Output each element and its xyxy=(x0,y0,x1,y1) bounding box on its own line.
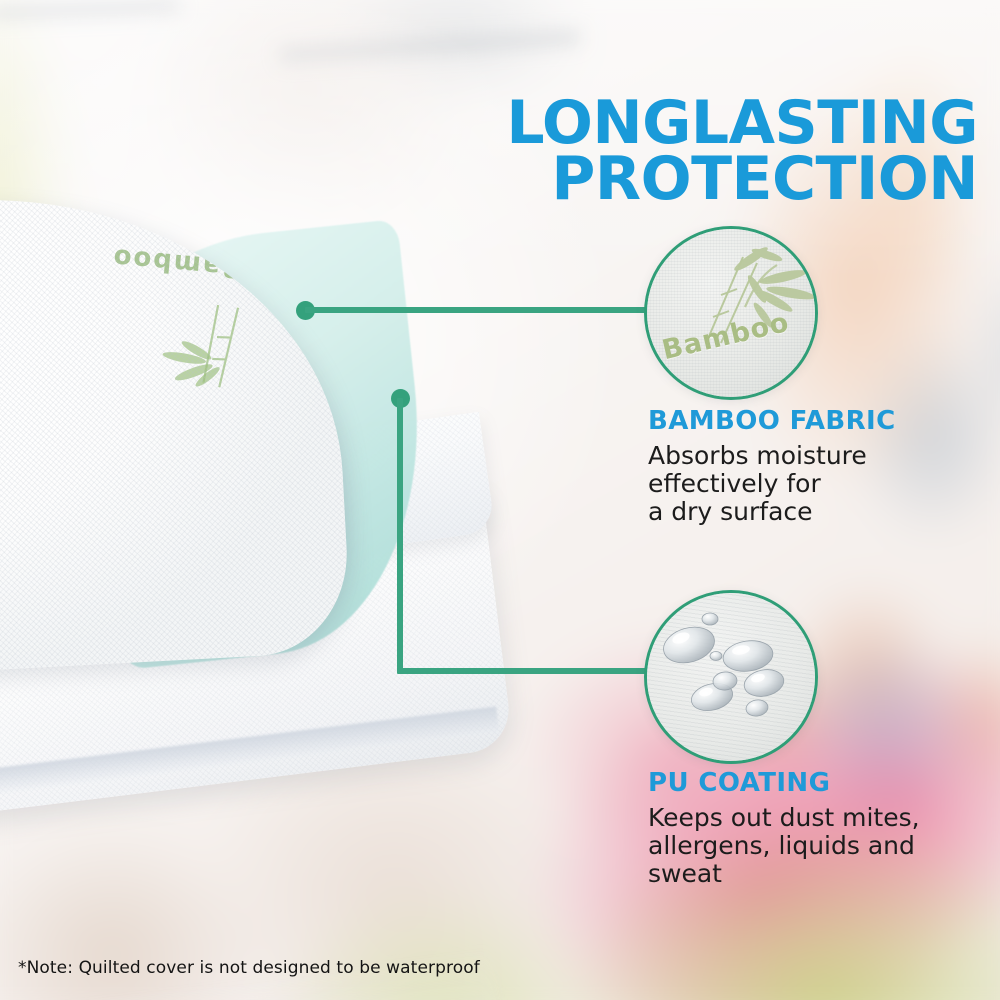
feature-title-pu: PU COATING xyxy=(648,768,988,798)
water-droplets-icon xyxy=(647,593,815,761)
bamboo-plant-icon-top xyxy=(133,293,269,420)
headline-line-2: PROTECTION xyxy=(506,152,978,208)
product-top-curled-flap: Bamboo xyxy=(0,182,352,679)
footnote-disclaimer: *Note: Quilted cover is not designed to … xyxy=(18,958,480,978)
bamboo-brand-print-top: Bamboo xyxy=(110,242,243,283)
product-mattress-protector: Bamboo xyxy=(0,195,580,895)
infographic-canvas: Bamboo xyxy=(0,0,1000,1000)
callout-circle-bamboo: Bamboo xyxy=(644,226,818,400)
headline: LONGLASTING PROTECTION xyxy=(506,96,978,208)
connector-pu-line-horizontal xyxy=(397,668,650,674)
feature-description-pu: Keeps out dust mites, allergens, liquids… xyxy=(648,804,988,888)
feature-block-bamboo: BAMBOO FABRIC Absorbs moisture effective… xyxy=(648,406,988,526)
feature-title-bamboo: BAMBOO FABRIC xyxy=(648,406,988,436)
feature-block-pu: PU COATING Keeps out dust mites, allerge… xyxy=(648,768,988,888)
feature-description-bamboo: Absorbs moisture effectively for a dry s… xyxy=(648,442,988,526)
connector-bamboo-line xyxy=(305,307,650,313)
connector-pu-line-vertical xyxy=(397,398,403,672)
bamboo-plant-icon-main xyxy=(0,429,20,639)
callout-circle-pu xyxy=(644,590,818,764)
